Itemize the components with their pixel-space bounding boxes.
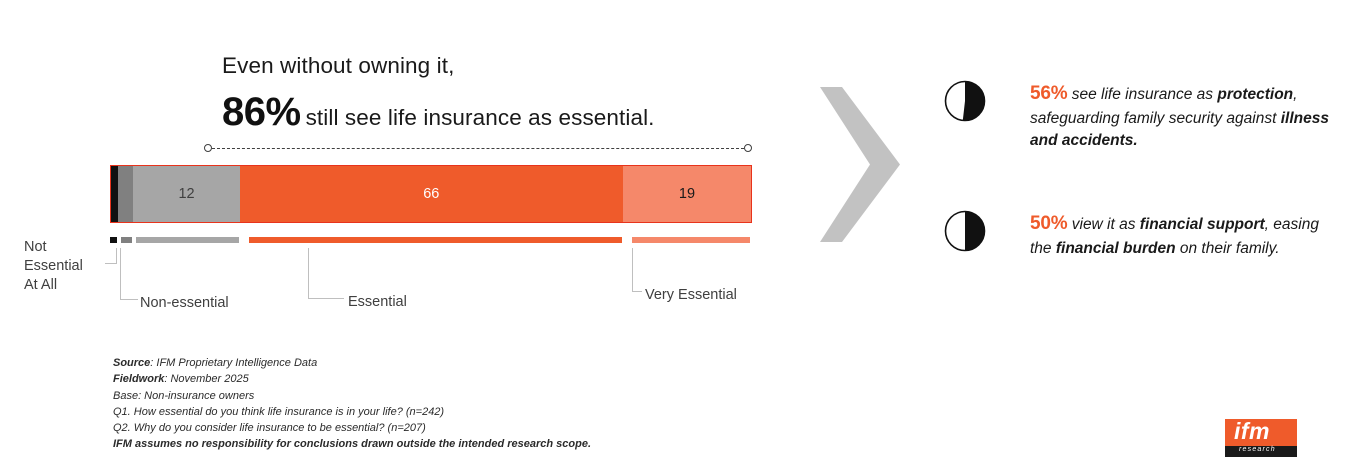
stacked-bar-track: 126619: [111, 166, 751, 222]
stat-row: 50% view it as financial support, easing…: [944, 210, 1344, 260]
pie-half-icon: [944, 80, 986, 122]
footnote-disclaimer: IFM assumes no responsibility for conclu…: [113, 436, 591, 452]
legend-label-not-essential-line-1: Not: [24, 238, 104, 257]
headline-block: Even without owning it, 86%still see lif…: [222, 52, 862, 134]
stat-part-strong: financial support: [1140, 216, 1265, 233]
legend-label-non-essential: Non-essential: [140, 294, 229, 313]
headline-rest: still see life insurance as essential.: [306, 105, 655, 130]
legend-label-not-essential-line-2: Essential: [24, 257, 104, 276]
legend-swatch-essential: [249, 237, 622, 243]
footnote-fieldwork: Fieldwork: November 2025: [113, 371, 591, 387]
chevron-right-icon: [820, 87, 900, 242]
footnotes-block: Source: IFM Proprietary Intelligence Dat…: [113, 355, 591, 453]
stat-percent: 50%: [1030, 213, 1067, 234]
bar-segment-value: 66: [423, 186, 439, 202]
leader-line-non-essential: [120, 248, 138, 300]
footnote-q2: Q2. Why do you consider life insurance t…: [113, 420, 591, 436]
stacked-bar-chart[interactable]: 126619: [110, 165, 752, 223]
headline-line-2: 86%still see life insurance as essential…: [222, 90, 862, 134]
pie-half-icon: [944, 210, 986, 252]
legend-swatch-very-low: [121, 237, 133, 243]
legend-label-not-essential-at-all: Not Essential At All: [24, 238, 104, 295]
ifm-research-logo: ifm research: [1225, 419, 1297, 457]
legend-swatch-strip: [110, 237, 750, 243]
logo-orange-box: ifm: [1225, 419, 1297, 446]
leader-line-not-essential: [105, 248, 117, 264]
stat-part: see life insurance as: [1067, 86, 1217, 103]
logo-black-bar: research: [1225, 446, 1297, 457]
bar-segment-value: 19: [679, 186, 695, 202]
leader-line-very-essential: [632, 248, 642, 292]
footnote-base: Base: Non-insurance owners: [113, 388, 591, 404]
headline-percent: 86%: [222, 90, 301, 134]
bar-segment-very-essential[interactable]: 19: [623, 166, 751, 222]
stat-part: on their family.: [1176, 240, 1280, 257]
legend-label-essential: Essential: [348, 293, 407, 312]
stat-text: 56% see life insurance as protection, sa…: [1030, 80, 1330, 152]
stat-percent: 56%: [1030, 83, 1067, 104]
footnote-fieldwork-label: Fieldwork: [113, 373, 164, 385]
footnote-source-label: Source: [113, 357, 150, 369]
stat-text: 50% view it as financial support, easing…: [1030, 210, 1330, 260]
legend-swatch-not-essential-at-all: [110, 237, 117, 243]
bar-segment-not-essential-at-all[interactable]: [111, 166, 118, 222]
bar-segment-very-low[interactable]: [118, 166, 133, 222]
stat-row: 56% see life insurance as protection, sa…: [944, 80, 1344, 152]
span-bracket: [204, 143, 752, 155]
span-endpoint-left-icon: [204, 144, 212, 152]
stat-part: view it as: [1067, 216, 1139, 233]
legend-swatch-very-essential: [632, 237, 750, 243]
footnote-source: Source: IFM Proprietary Intelligence Dat…: [113, 355, 591, 371]
span-dashed-line: [212, 148, 744, 149]
headline-line-1: Even without owning it,: [222, 52, 862, 80]
footnote-q1: Q1. How essential do you think life insu…: [113, 404, 591, 420]
legend-gap: [622, 237, 632, 243]
logo-wordmark: ifm: [1234, 418, 1270, 445]
footnote-fieldwork-value: : November 2025: [164, 373, 248, 385]
legend-swatch-non-essential: [136, 237, 238, 243]
stat-part-strong: protection: [1217, 86, 1293, 103]
bar-segment-non-essential[interactable]: 12: [133, 166, 239, 222]
legend-gap: [239, 237, 249, 243]
span-endpoint-right-icon: [744, 144, 752, 152]
leader-line-essential: [308, 248, 344, 299]
footnote-source-value: : IFM Proprietary Intelligence Data: [150, 357, 317, 369]
bar-segment-essential[interactable]: 66: [240, 166, 623, 222]
logo-subtitle: research: [1239, 446, 1276, 453]
stat-part-strong: financial burden: [1056, 240, 1176, 257]
bar-segment-value: 12: [178, 186, 194, 202]
legend-label-not-essential-line-3: At All: [24, 276, 104, 295]
legend-label-very-essential: Very Essential: [645, 286, 737, 305]
